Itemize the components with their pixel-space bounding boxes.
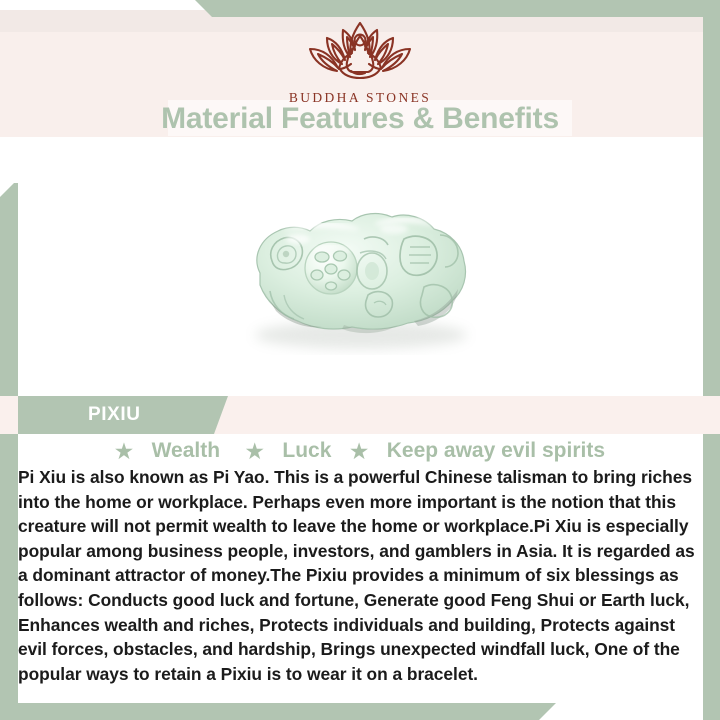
decorative-band-bottom xyxy=(0,703,556,720)
pixiu-banner-label: PIXIU xyxy=(88,396,141,434)
product-image-area xyxy=(18,140,703,390)
star-icon: ★ xyxy=(115,441,133,463)
lotus-meditation-icon xyxy=(285,16,435,88)
benefits-line: ★ Wealth ★ Luck ★ Keep away evil spirits xyxy=(0,438,720,465)
decorative-band-top xyxy=(195,0,720,17)
page-title: Material Features & Benefits xyxy=(0,101,720,137)
benefit-luck: Luck xyxy=(282,439,331,462)
benefit-wealth: Wealth xyxy=(152,439,220,462)
star-icon: ★ xyxy=(246,441,264,463)
benefit-evil-spirits: Keep away evil spirits xyxy=(387,439,605,462)
promo-infographic: BUDDHA STONES Material Features & Benefi… xyxy=(0,0,720,720)
star-icon: ★ xyxy=(350,441,368,463)
pixiu-jade-carving-image xyxy=(226,195,496,355)
brand-logo: BUDDHA STONES xyxy=(0,16,720,106)
description-text: Pi Xiu is also known as Pi Yao. This is … xyxy=(18,465,698,686)
